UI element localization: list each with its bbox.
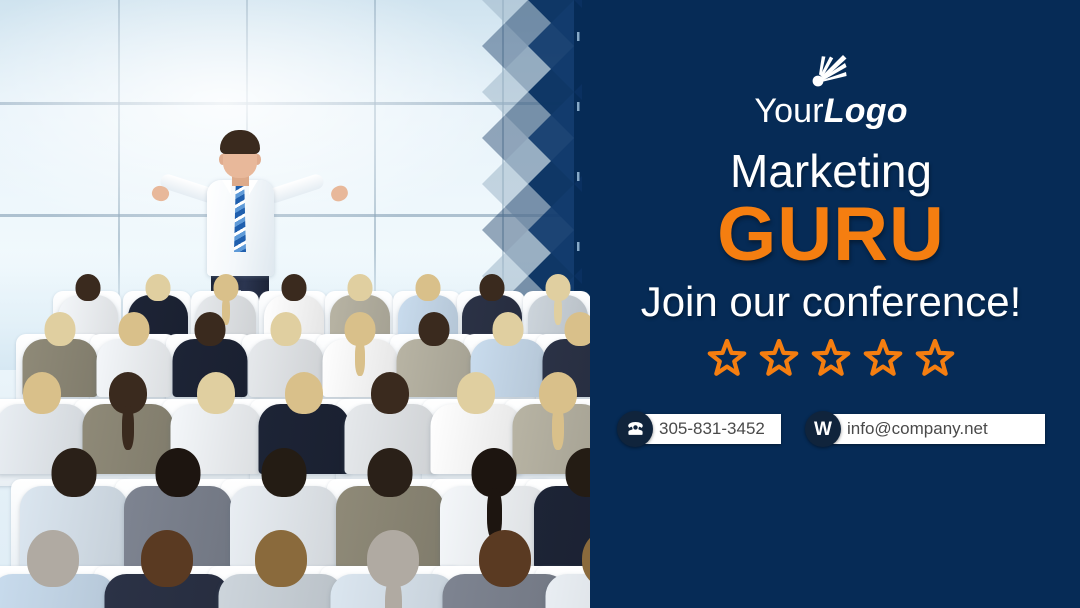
star-outline-icon[interactable] bbox=[758, 339, 800, 381]
audience-member-head bbox=[285, 372, 323, 414]
audience-group bbox=[0, 268, 590, 608]
speaker-collar-right bbox=[249, 180, 258, 195]
audience-member-head bbox=[156, 448, 201, 497]
headline-guru: GURU bbox=[582, 197, 1080, 273]
audience-member-ponytail bbox=[552, 406, 564, 450]
speaker-right-hand bbox=[329, 184, 350, 204]
email-field[interactable]: info@company.net bbox=[833, 414, 1045, 444]
audience-member-head bbox=[76, 274, 101, 301]
burst-fan-logo-icon bbox=[808, 50, 854, 90]
audience-member bbox=[218, 530, 343, 608]
phone-contact[interactable]: 305-831-3452 bbox=[617, 411, 781, 447]
w-letter-glyph: W bbox=[814, 420, 832, 439]
audience-member-head bbox=[492, 312, 523, 346]
speaker-hair bbox=[220, 130, 260, 154]
speaker-collar-left bbox=[222, 180, 231, 195]
audience-member-head bbox=[371, 372, 409, 414]
speaker-right-arm bbox=[266, 172, 326, 204]
audience-member-head bbox=[262, 448, 307, 497]
audience-member-ponytail bbox=[385, 577, 402, 608]
audience-member-ponytail bbox=[355, 340, 365, 376]
brand-logo[interactable]: YourLogo bbox=[754, 50, 907, 131]
audience-member-head bbox=[416, 274, 441, 301]
headline-block: Marketing GURU Join our conference! bbox=[582, 147, 1080, 325]
audience-member-head bbox=[141, 530, 193, 587]
logo-text-logo: Logo bbox=[824, 92, 908, 130]
audience-member bbox=[330, 530, 455, 608]
audience-member bbox=[104, 530, 229, 608]
star-outline-icon[interactable] bbox=[810, 339, 852, 381]
marketing-guru-banner: YourLogo Marketing GURU Join our confere… bbox=[0, 0, 1080, 608]
audience-member-head bbox=[23, 372, 61, 414]
audience-member-head bbox=[52, 448, 97, 497]
audience-member bbox=[0, 530, 115, 608]
audience-member bbox=[545, 530, 590, 608]
audience-member-head bbox=[146, 274, 171, 301]
audience-member-head bbox=[194, 312, 225, 346]
headline-subtitle: Join our conference! bbox=[582, 279, 1080, 325]
audience-member-head bbox=[457, 372, 495, 414]
audience-member-ponytail bbox=[122, 406, 134, 450]
audience-member-torso bbox=[545, 574, 590, 608]
audience-member-head bbox=[270, 312, 301, 346]
audience-member-head bbox=[282, 274, 307, 301]
star-rating[interactable] bbox=[706, 339, 956, 381]
star-outline-icon[interactable] bbox=[706, 339, 748, 381]
logo-text-your: Your bbox=[754, 92, 824, 130]
audience-member-head bbox=[418, 312, 449, 346]
star-outline-icon[interactable] bbox=[914, 339, 956, 381]
audience-member-head bbox=[44, 312, 75, 346]
conference-photo bbox=[0, 0, 590, 608]
audience-member-head bbox=[480, 274, 505, 301]
audience-member-head bbox=[255, 530, 307, 587]
audience-member-head bbox=[27, 530, 79, 587]
star-outline-icon[interactable] bbox=[862, 339, 904, 381]
audience-member-head bbox=[118, 312, 149, 346]
speaker-striped-tie bbox=[234, 186, 246, 252]
audience-member-head bbox=[197, 372, 235, 414]
headline-marketing: Marketing bbox=[582, 147, 1080, 195]
audience-member-head bbox=[564, 312, 590, 346]
audience-member-head bbox=[368, 448, 413, 497]
audience-member-head bbox=[348, 274, 373, 301]
web-contact[interactable]: W info@company.net bbox=[805, 411, 1045, 447]
info-panel: YourLogo Marketing GURU Join our confere… bbox=[582, 0, 1080, 608]
phone-number-field[interactable]: 305-831-3452 bbox=[645, 414, 781, 444]
contact-row: 305-831-3452 W info@company.net bbox=[582, 411, 1080, 447]
audience-member-head bbox=[479, 530, 531, 587]
logo-wordmark: YourLogo bbox=[754, 92, 907, 131]
